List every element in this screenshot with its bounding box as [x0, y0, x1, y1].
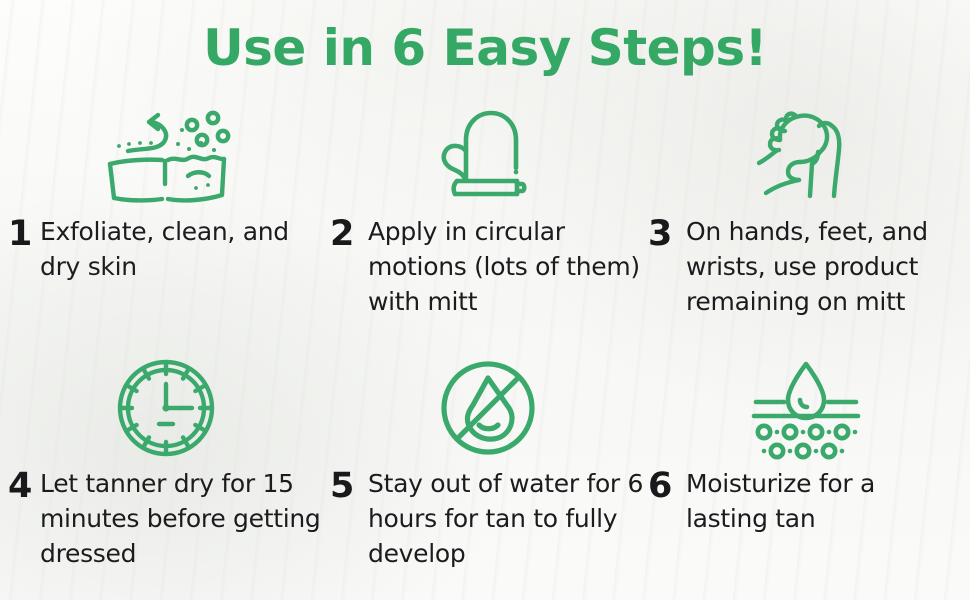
step-number-3: 3 — [648, 214, 686, 254]
step-body-3: 3 On hands, feet, and wrists, use produc… — [648, 214, 964, 319]
step-text-3: On hands, feet, and wrists, use product … — [686, 214, 964, 319]
clock-icon — [8, 356, 324, 460]
page-title: Use in 6 Easy Steps! — [0, 19, 970, 77]
steps-grid: 1 Exfoliate, clean, and dry skin — [0, 104, 970, 600]
step-item-1: 1 Exfoliate, clean, and dry skin — [8, 104, 324, 284]
no-water-droplet-icon — [330, 356, 646, 460]
step-number-5: 5 — [330, 466, 368, 506]
step-body-5: 5 Stay out of water for 6 hours for tan … — [330, 466, 646, 571]
step-item-5: 5 Stay out of water for 6 hours for tan … — [330, 356, 646, 571]
step-body-6: 6 Moisturize for a lasting tan — [648, 466, 964, 536]
tanning-mitt-icon — [330, 104, 646, 208]
step-number-6: 6 — [648, 466, 686, 506]
step-item-6: 6 Moisturize for a lasting tan — [648, 356, 964, 536]
step-body-1: 1 Exfoliate, clean, and dry skin — [8, 214, 324, 284]
step-item-3: 3 On hands, feet, and wrists, use produc… — [648, 104, 964, 319]
step-text-6: Moisturize for a lasting tan — [686, 466, 964, 536]
exfoliate-skin-icon — [8, 104, 324, 208]
step-number-1: 1 — [8, 214, 40, 254]
step-number-2: 2 — [330, 214, 368, 254]
step-item-2: 2 Apply in circular motions (lots of the… — [330, 104, 646, 319]
step-body-2: 2 Apply in circular motions (lots of the… — [330, 214, 646, 319]
step-item-4: 4 Let tanner dry for 15 minutes before g… — [8, 356, 324, 571]
hands-applying-icon — [648, 104, 964, 208]
step-number-4: 4 — [8, 466, 40, 506]
step-text-2: Apply in circular motions (lots of them)… — [368, 214, 646, 319]
moisturize-skin-droplet-icon — [648, 356, 964, 460]
step-text-4: Let tanner dry for 15 minutes before get… — [40, 466, 324, 571]
step-body-4: 4 Let tanner dry for 15 minutes before g… — [8, 466, 324, 571]
step-text-5: Stay out of water for 6 hours for tan to… — [368, 466, 646, 571]
step-text-1: Exfoliate, clean, and dry skin — [40, 214, 324, 284]
